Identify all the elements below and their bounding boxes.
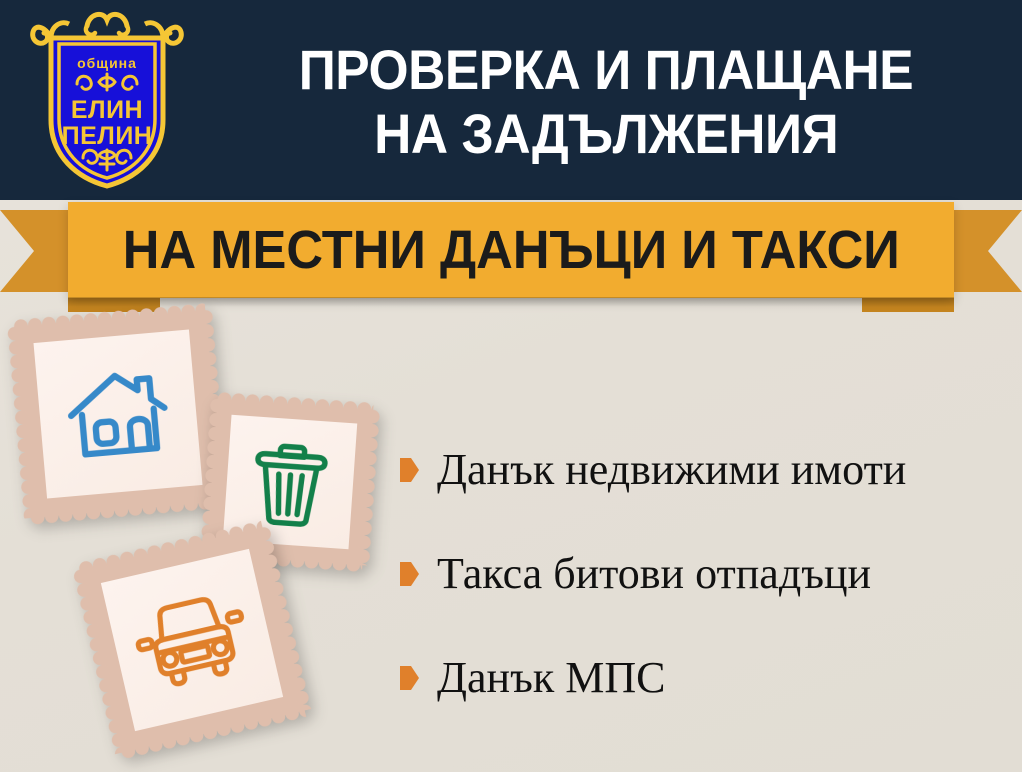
trash-bin-icon <box>244 433 336 531</box>
header-banner: община ЕЛИН ПЕЛИН <box>0 0 1022 200</box>
page-title-line-1: ПРОВЕРКА И ПЛАЩАНЕ <box>299 39 913 101</box>
page-title-line-2: НА ЗАДЪЛЖЕНИЯ <box>374 103 838 165</box>
bullet-arrow-icon <box>400 562 419 586</box>
list-item[interactable]: Такса битови отпадъци <box>400 522 1015 626</box>
stamp-inner-face <box>33 329 202 498</box>
bullet-arrow-icon <box>400 458 419 482</box>
ribbon-label: НА МЕСТНИ ДАНЪЦИ И ТАКСИ <box>123 222 900 278</box>
svg-text:ПЕЛИН: ПЕЛИН <box>62 122 153 150</box>
tax-type-list: Данък недвижими имоти Такса битови отпад… <box>400 418 1015 730</box>
ribbon-body: НА МЕСТНИ ДАНЪЦИ И ТАКСИ <box>68 202 954 298</box>
svg-text:община: община <box>77 55 137 71</box>
municipality-logo: община ЕЛИН ПЕЛИН <box>27 8 187 192</box>
list-item-label: Данък недвижими имоти <box>437 446 906 494</box>
poster-canvas: община ЕЛИН ПЕЛИН <box>0 0 1022 772</box>
stamp-edge-left <box>7 326 38 518</box>
car-icon <box>127 584 256 697</box>
list-item-label: Данък МПС <box>437 654 665 702</box>
subtitle-ribbon: НА МЕСТНИ ДАНЪЦИ И ТАКСИ <box>0 200 1022 312</box>
list-item-label: Такса битови отпадъци <box>437 550 871 598</box>
stamp-inner-face <box>101 549 283 731</box>
stamp-edge-right <box>355 409 380 566</box>
svg-text:ЕЛИН: ЕЛИН <box>71 96 143 124</box>
list-item[interactable]: Данък МПС <box>400 626 1015 730</box>
header-title-block: ПРОВЕРКА И ПЛАЩАНЕ НА ЗАДЪЛЖЕНИЯ <box>190 14 1022 190</box>
vehicle-tax-stamp <box>79 527 304 752</box>
bullet-arrow-icon <box>400 666 419 690</box>
list-item[interactable]: Данък недвижими имоти <box>400 418 1015 522</box>
house-icon <box>60 360 176 468</box>
property-tax-stamp <box>14 310 222 518</box>
coat-of-arms-icon: община ЕЛИН ПЕЛИН <box>27 8 187 192</box>
